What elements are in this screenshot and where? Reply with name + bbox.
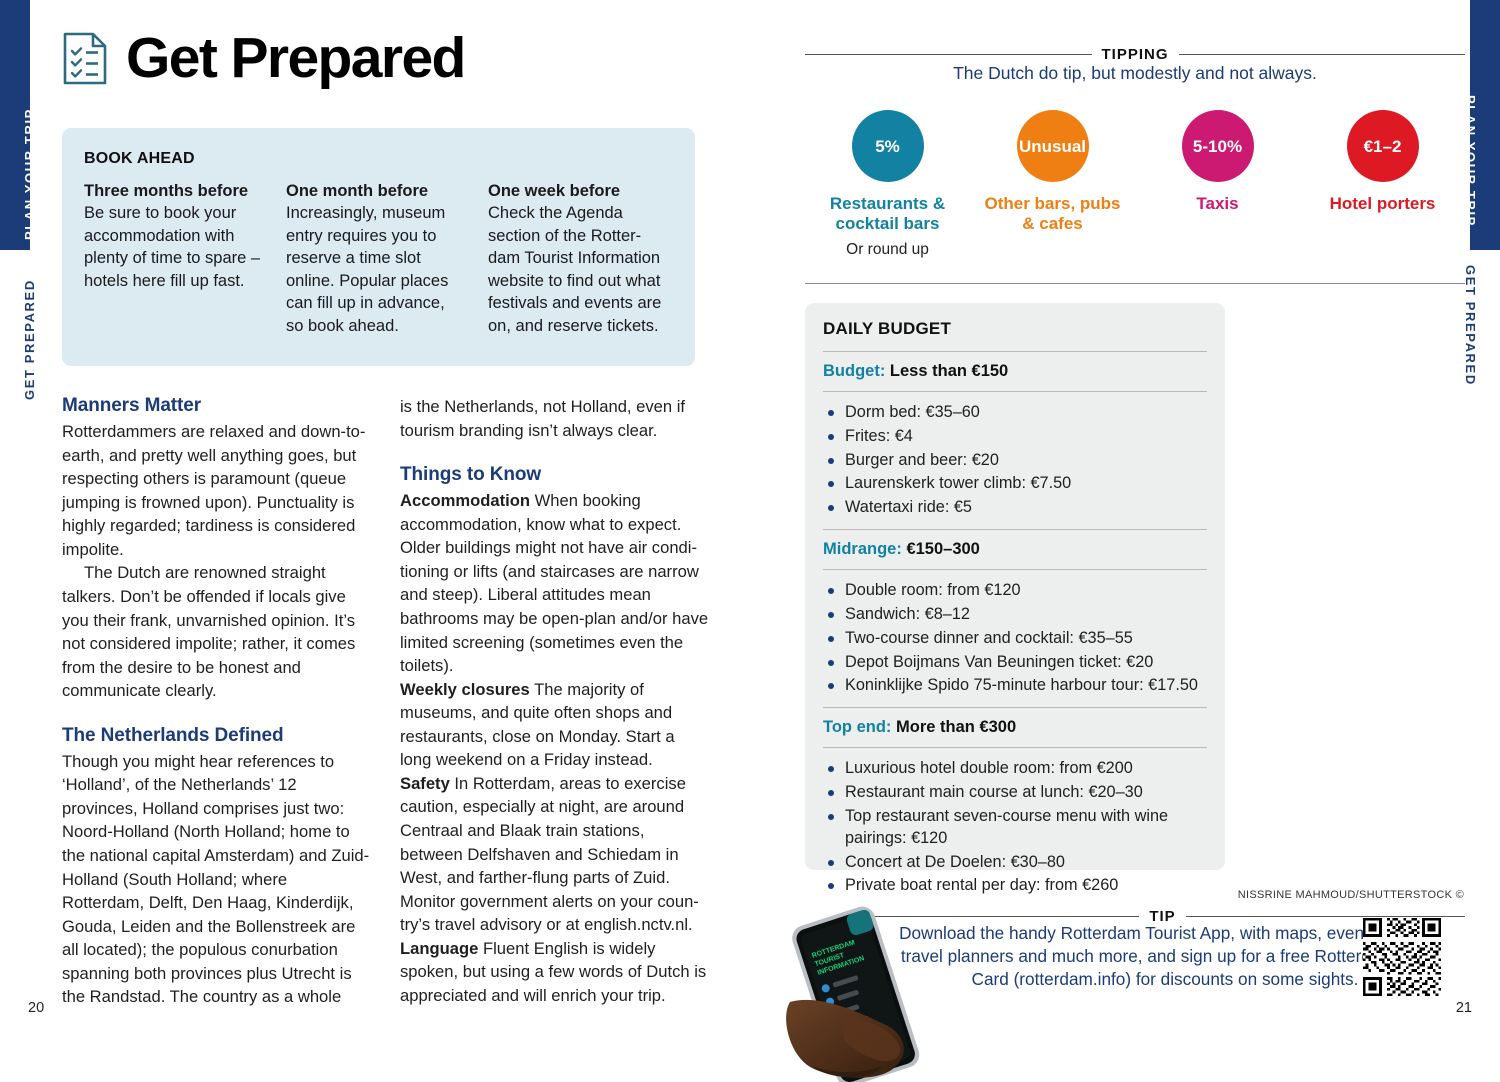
tipping-item-label: Other bars, pubs & cafes xyxy=(970,194,1135,235)
book-ahead-panel: BOOK AHEAD Three months before Be sure t… xyxy=(62,128,695,366)
tier-value: €150–300 xyxy=(906,540,979,558)
heading-netherlands-defined: The Netherlands Defined xyxy=(62,725,372,747)
tier-key: Top end: xyxy=(823,718,891,736)
tier-value: Less than €150 xyxy=(890,362,1008,380)
list-item: Private boat rental per day: from €260 xyxy=(823,875,1207,897)
divider xyxy=(823,707,1207,708)
checklist-document-icon xyxy=(62,32,108,86)
folio-right: 21 xyxy=(1456,1000,1472,1016)
term-safety: Safety xyxy=(400,774,450,793)
paragraph-weekly-closures: Weekly closures The majority of museums,… xyxy=(400,678,710,772)
text-safety: In Rotterdam, areas to exercise caution,… xyxy=(400,774,699,934)
tier-key: Budget: xyxy=(823,362,885,380)
paragraph-netherlands: Though you might hear references to ‘Hol… xyxy=(62,750,372,1009)
list-item: Top restaurant seven-course menu with wi… xyxy=(823,806,1207,850)
tipping-item-hotel-porters: €1–2 Hotel porters xyxy=(1300,110,1465,259)
book-ahead-col-body: Increasingly, museum entry requires you … xyxy=(286,202,464,337)
tipping-bubble-value: 5-10% xyxy=(1182,110,1254,182)
book-ahead-col-body: Be sure to book your accommodation with … xyxy=(84,202,262,292)
tipping-items: 5% Restaurants & cocktail bars Or round … xyxy=(805,110,1465,259)
page-title-row: Get Prepared xyxy=(62,30,465,87)
tipping-item-note: Or round up xyxy=(805,241,970,259)
tipping-item-other-bars: Unusual Other bars, pubs & cafes xyxy=(970,110,1135,259)
tipping-bubble-value: Unusual xyxy=(1017,110,1089,182)
budget-tier-heading-midrange: Midrange: €150–300 xyxy=(823,540,1207,559)
tier-value: More than €300 xyxy=(896,718,1016,736)
budget-list-top-end: Luxurious hotel double room: from €200 R… xyxy=(823,758,1207,897)
tipping-bubble-value: 5% xyxy=(852,110,924,182)
page-title: Get Prepared xyxy=(126,30,465,87)
qr-code xyxy=(1363,918,1441,996)
book-ahead-col-title: One month before xyxy=(286,182,464,201)
rule-line-left xyxy=(805,54,1092,55)
rule-line-right xyxy=(1179,54,1466,55)
spread-page: PLAN YOUR TRIP GET PREPARED PLAN YOUR TR… xyxy=(0,0,1500,1082)
list-item: Restaurant main course at lunch: €20–30 xyxy=(823,782,1207,804)
folio-left: 20 xyxy=(28,1000,44,1016)
divider xyxy=(823,569,1207,570)
divider xyxy=(823,747,1207,748)
list-item: Two-course dinner and cocktail: €35–55 xyxy=(823,628,1207,650)
daily-budget-panel: DAILY BUDGET Budget: Less than €150 Dorm… xyxy=(805,303,1225,870)
tipping-heading: TIPPING xyxy=(1102,46,1169,63)
tier-key: Midrange: xyxy=(823,540,902,558)
divider xyxy=(823,391,1207,392)
daily-budget-heading: DAILY BUDGET xyxy=(823,319,1207,339)
term-accommodation: Accommodation xyxy=(400,491,530,510)
book-ahead-heading: BOOK AHEAD xyxy=(84,150,673,168)
tipping-item-label: Restaurants & cocktail bars xyxy=(805,194,970,235)
book-ahead-col-title: One week before xyxy=(488,182,666,201)
tipping-item-label: Taxis xyxy=(1135,194,1300,214)
body-columns: Manners Matter Rotterdammers are relaxed… xyxy=(62,395,710,1009)
term-language: Language xyxy=(400,939,478,958)
tipping-bubble-value: €1–2 xyxy=(1347,110,1419,182)
tipping-subtitle: The Dutch do tip, but modestly and not a… xyxy=(805,63,1465,84)
list-item: Koninklijke Spido 75-minute harbour tour… xyxy=(823,675,1207,697)
book-ahead-col-title: Three months before xyxy=(84,182,262,201)
text-accommodation: When booking accommodation, know what to… xyxy=(400,491,708,675)
tipping-item-restaurants: 5% Restaurants & cocktail bars Or round … xyxy=(805,110,970,259)
list-item: Concert at De Doelen: €30–80 xyxy=(823,852,1207,874)
paragraph-netherlands-continued: is the Netherlands, not Holland, even if… xyxy=(400,395,710,442)
section-divider xyxy=(805,283,1465,284)
book-ahead-column: One week before Check the Agenda section… xyxy=(488,182,666,337)
budget-list-midrange: Double room: from €120 Sandwich: €8–12 T… xyxy=(823,580,1207,697)
paragraph-manners-1: Rotterdammers are relaxed and down-to-ea… xyxy=(62,420,372,561)
photo-credit: NISSRINE MAHMOUD/SHUTTERSTOCK © xyxy=(1238,889,1464,901)
heading-things-to-know: Things to Know xyxy=(400,464,710,486)
list-item: Luxurious hotel double room: from €200 xyxy=(823,758,1207,780)
book-ahead-col-body: Check the Agenda section of the Rotter-d… xyxy=(488,202,666,337)
tipping-item-label: Hotel porters xyxy=(1300,194,1465,214)
list-item: Watertaxi ride: €5 xyxy=(823,497,1207,519)
heading-manners-matter: Manners Matter xyxy=(62,395,372,417)
book-ahead-column: One month before Increasingly, museum en… xyxy=(286,182,464,337)
book-ahead-column: Three months before Be sure to book your… xyxy=(84,182,262,337)
paragraph-manners-2: The Dutch are renowned straight talkers.… xyxy=(62,561,372,702)
list-item: Frites: €4 xyxy=(823,426,1207,448)
body-column-one: Manners Matter Rotterdammers are relaxed… xyxy=(62,395,372,1009)
tipping-heading-rule: TIPPING xyxy=(805,46,1465,63)
tipping-item-taxis: 5-10% Taxis xyxy=(1135,110,1300,259)
budget-tier-heading-top-end: Top end: More than €300 xyxy=(823,718,1207,737)
list-item: Dorm bed: €35–60 xyxy=(823,402,1207,424)
left-page: Get Prepared BOOK AHEAD Three months bef… xyxy=(0,0,750,1082)
budget-list-budget: Dorm bed: €35–60 Frites: €4 Burger and b… xyxy=(823,402,1207,519)
list-item: Double room: from €120 xyxy=(823,580,1207,602)
paragraph-language: Language Fluent English is widely spoken… xyxy=(400,937,710,1008)
book-ahead-columns: Three months before Be sure to book your… xyxy=(84,182,673,337)
list-item: Burger and beer: €20 xyxy=(823,450,1207,472)
budget-tier-heading-budget: Budget: Less than €150 xyxy=(823,362,1207,381)
list-item: Depot Boijmans Van Beuningen ticket: €20 xyxy=(823,652,1207,674)
term-weekly-closures: Weekly closures xyxy=(400,680,530,699)
divider xyxy=(823,529,1207,530)
list-item: Laurenskerk tower climb: €7.50 xyxy=(823,473,1207,495)
body-column-two: is the Netherlands, not Holland, even if… xyxy=(400,395,710,1009)
divider xyxy=(823,351,1207,352)
paragraph-accommodation: Accommodation When booking accommodation… xyxy=(400,489,710,678)
phone-in-hand-photo: ROTTERDAM TOURIST INFORMATION xyxy=(782,898,982,1082)
paragraph-safety: Safety In Rotterdam, areas to exercise c… xyxy=(400,772,710,937)
list-item: Sandwich: €8–12 xyxy=(823,604,1207,626)
rule-line-right xyxy=(1186,916,1465,917)
